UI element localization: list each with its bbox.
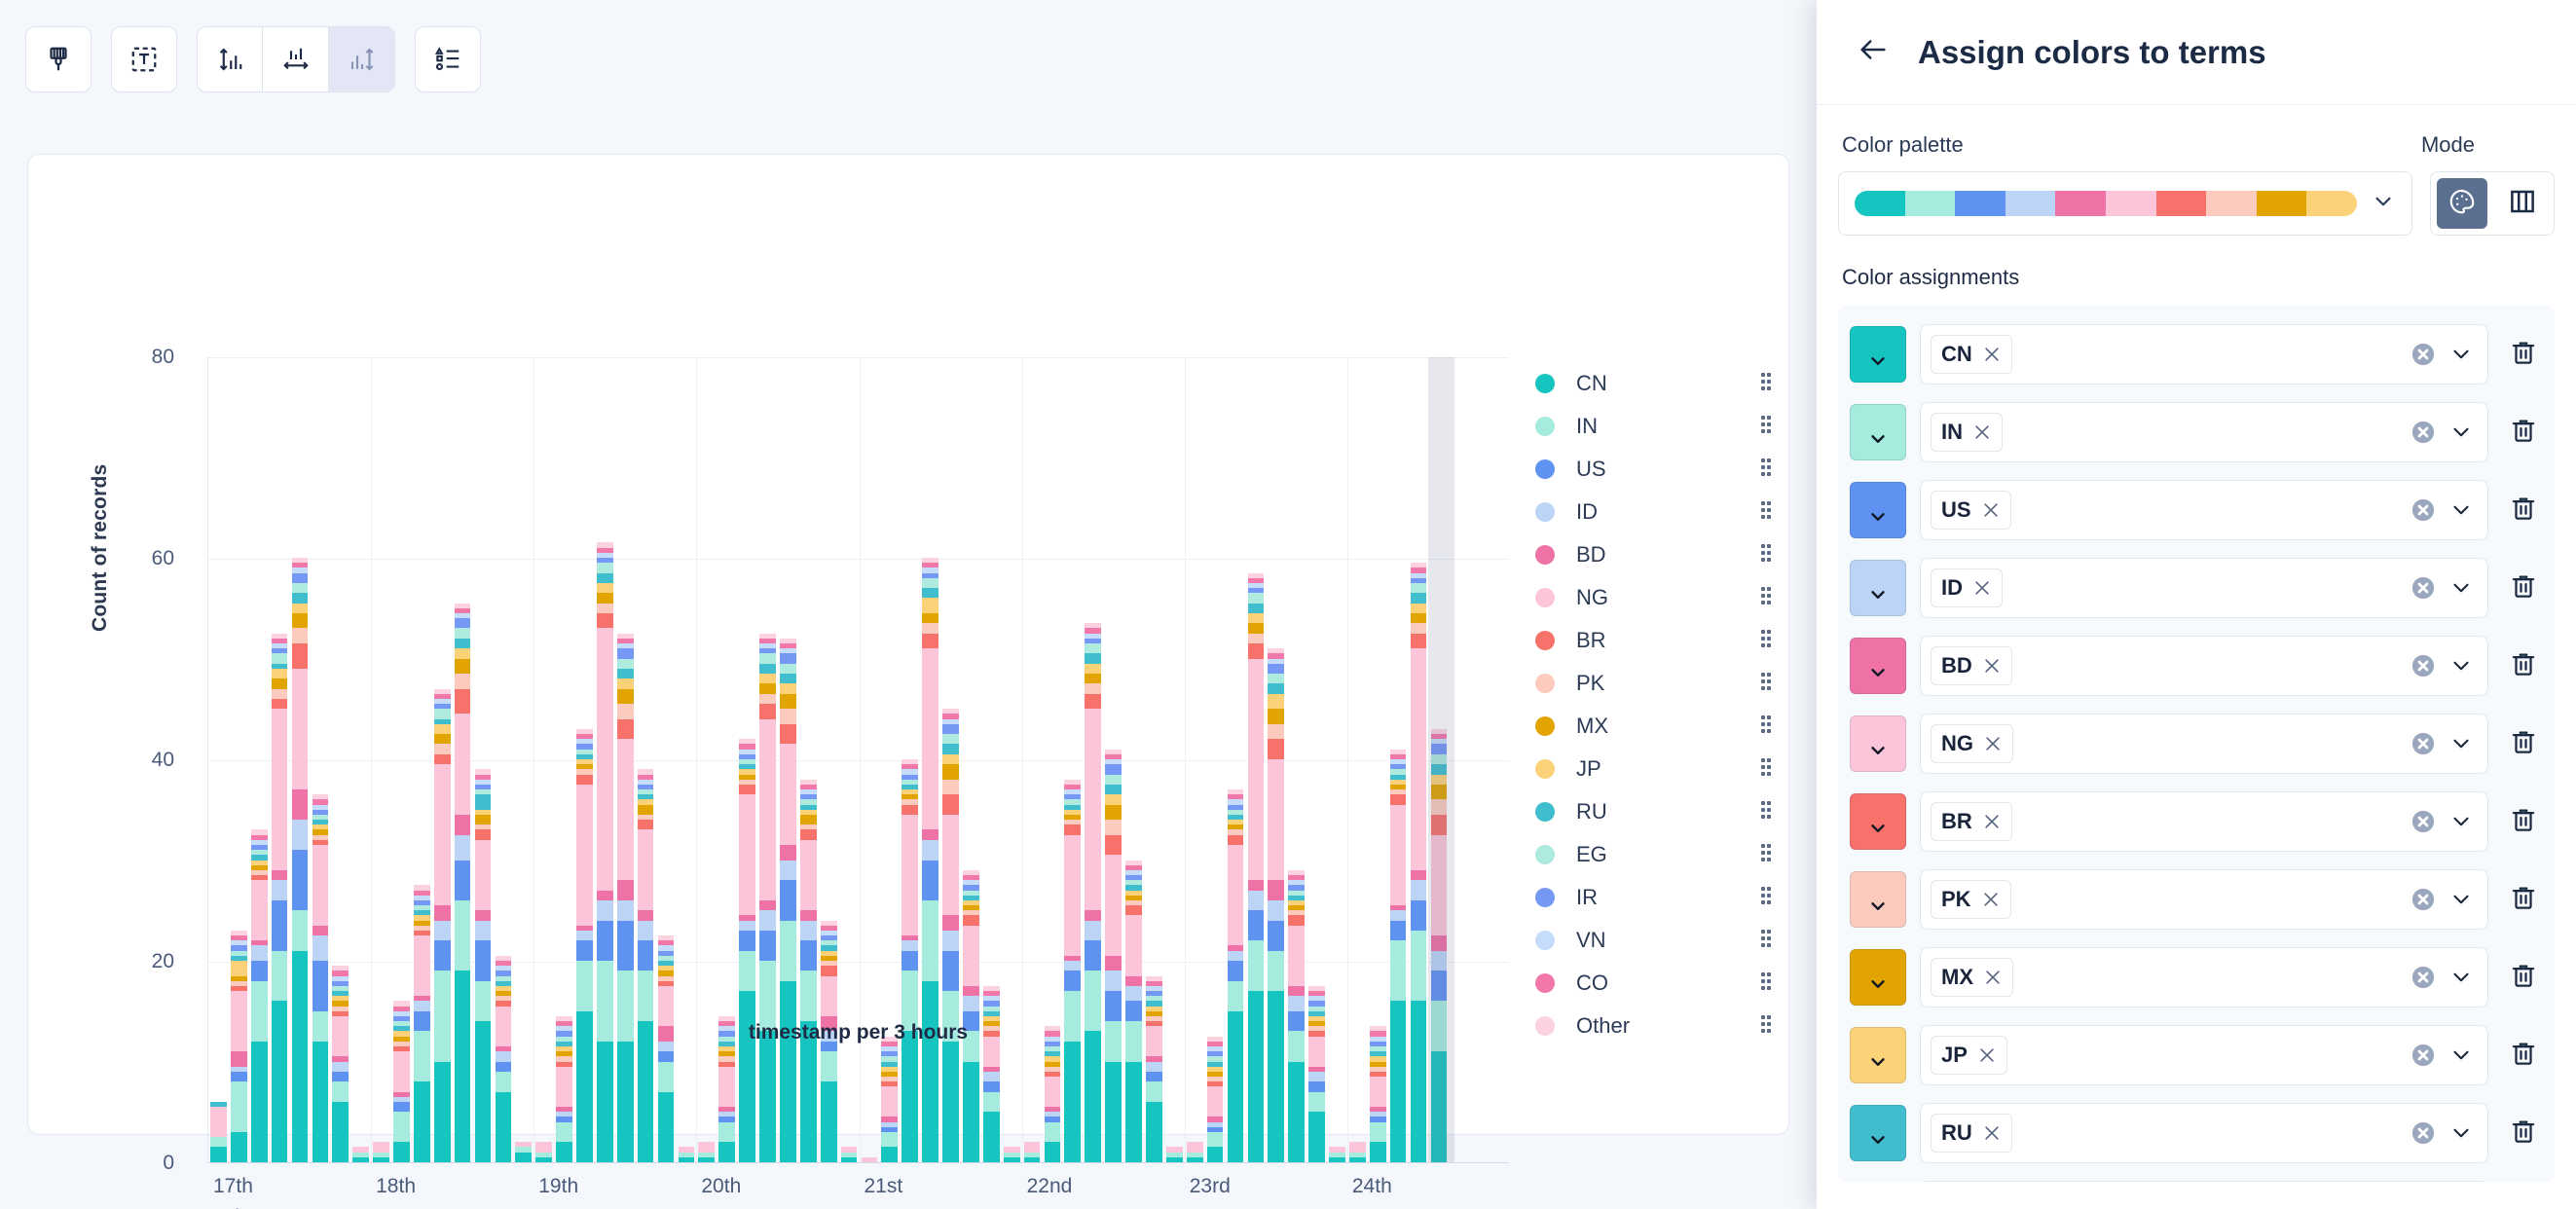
bar-segment	[841, 1153, 858, 1157]
color-palette-select[interactable]	[1838, 171, 2412, 236]
bar-segment	[313, 810, 329, 815]
bar[interactable]	[1370, 1026, 1386, 1162]
bar-segment	[231, 1081, 247, 1132]
bar-segment	[292, 563, 309, 568]
clear-selection-icon[interactable]	[2410, 496, 2437, 524]
bar-segment	[963, 891, 979, 896]
term-combobox[interactable]: RU	[1920, 1103, 2488, 1163]
legend-item-cn[interactable]: CN	[1535, 362, 1779, 405]
term-combobox[interactable]: ID	[1920, 558, 2488, 618]
legend-item-label: CN	[1576, 371, 1607, 396]
clear-selection-icon[interactable]	[2410, 964, 2437, 991]
bar-segment	[1431, 764, 1448, 774]
bar[interactable]	[862, 1157, 878, 1162]
bar[interactable]	[739, 739, 755, 1162]
bar-segment	[1085, 643, 1101, 653]
bar[interactable]	[780, 639, 796, 1162]
bar-segment	[1064, 1042, 1081, 1162]
color-swatch-button[interactable]	[1850, 715, 1906, 772]
chevron-down-icon[interactable]	[2448, 1043, 2474, 1068]
term-pill-label: JP	[1941, 1043, 1968, 1068]
bar-segment	[496, 961, 512, 966]
chevron-down-icon	[1867, 740, 1889, 766]
term-pill: BD	[1931, 646, 2012, 685]
bar[interactable]	[922, 558, 938, 1162]
bar-segment	[272, 870, 288, 880]
bar-segment	[1085, 683, 1101, 693]
bar[interactable]	[841, 1147, 858, 1162]
bar[interactable]	[1411, 563, 1427, 1162]
bar-segment	[718, 1051, 735, 1056]
bar-segment	[658, 1051, 675, 1061]
bar[interactable]	[963, 870, 979, 1162]
bar-segment	[455, 835, 471, 861]
bar[interactable]	[475, 769, 492, 1162]
bar-segment	[739, 991, 755, 1162]
legend-drag-handle[interactable]	[1761, 544, 1771, 566]
legend-item-in[interactable]: IN	[1535, 405, 1779, 448]
color-assignment-row: JP	[1838, 1016, 2555, 1094]
bar-segment	[1411, 613, 1427, 623]
clear-selection-icon[interactable]	[2410, 1042, 2437, 1069]
delete-assignment-button[interactable]	[2502, 1039, 2545, 1073]
bar-segment	[1288, 896, 1305, 900]
remove-term-icon[interactable]	[1981, 890, 2001, 909]
bar-segment	[597, 573, 613, 583]
bar-segment	[1411, 880, 1427, 900]
bar-segment	[902, 815, 918, 935]
bar[interactable]	[515, 1142, 532, 1162]
chevron-down-icon[interactable]	[2448, 731, 2474, 756]
chevron-down-icon[interactable]	[2448, 420, 2474, 445]
bar-segment	[515, 1142, 532, 1147]
bar-segment	[414, 921, 430, 926]
legend-color-dot	[1535, 1016, 1555, 1036]
legend-item-mx[interactable]: MX	[1535, 705, 1779, 748]
bar-segment	[434, 940, 451, 971]
bar-segment	[1288, 926, 1305, 986]
bar-segment	[902, 805, 918, 815]
bar-segment	[1064, 824, 1081, 834]
remove-term-icon[interactable]	[1982, 1123, 2002, 1143]
bar[interactable]	[496, 956, 512, 1162]
bar-segment	[292, 568, 309, 572]
color-assignment-row: BD	[1838, 627, 2555, 705]
bar-segment	[1268, 659, 1284, 664]
bar[interactable]	[455, 604, 471, 1162]
term-combobox[interactable]: BD	[1920, 636, 2488, 696]
bar-segment	[800, 805, 817, 810]
bar[interactable]	[1431, 729, 1448, 1162]
bar[interactable]	[881, 1037, 898, 1162]
bar-segment	[272, 699, 288, 709]
legend-drag-handle[interactable]	[1761, 501, 1771, 523]
bar-segment	[434, 719, 451, 724]
bar-segment	[841, 1147, 858, 1152]
bar[interactable]	[597, 542, 613, 1162]
bar[interactable]	[1228, 789, 1244, 1162]
term-pill-label: MX	[1941, 965, 1973, 990]
bottom-axis-button[interactable]	[263, 26, 329, 92]
bar-segment	[576, 759, 593, 764]
bar-segment	[1228, 829, 1244, 834]
bar[interactable]	[1064, 780, 1081, 1162]
clear-selection-icon[interactable]	[2410, 1119, 2437, 1147]
bar-segment	[1248, 593, 1265, 603]
bar-segment	[535, 1157, 552, 1162]
color-palette-label: Color palette	[1842, 132, 1964, 158]
clear-selection-icon[interactable]	[2410, 652, 2437, 679]
bar[interactable]	[658, 935, 675, 1162]
bar-segment	[739, 759, 755, 764]
term-pill: IN	[1931, 413, 2003, 452]
bar[interactable]	[1390, 750, 1407, 1162]
bar-segment	[1207, 1081, 1224, 1086]
bar-segment	[292, 850, 309, 910]
bar-segment	[679, 1157, 695, 1162]
legend-item-jp[interactable]: JP	[1535, 748, 1779, 790]
gradient-mode-button[interactable]	[2497, 178, 2548, 229]
bar[interactable]	[434, 689, 451, 1162]
term-combobox[interactable]: EG	[1920, 1181, 2488, 1182]
bar-segment	[1390, 940, 1407, 1001]
bar[interactable]	[1024, 1142, 1041, 1162]
term-combobox[interactable]: CN	[1920, 324, 2488, 385]
legend-drag-handle[interactable]	[1761, 630, 1771, 651]
bar[interactable]	[1308, 986, 1325, 1162]
remove-term-icon[interactable]	[1977, 1045, 1997, 1065]
term-combobox[interactable]: IN	[1920, 402, 2488, 462]
bar-segment	[475, 769, 492, 774]
bar-segment	[1268, 694, 1284, 710]
legend-drag-handle[interactable]	[1761, 673, 1771, 694]
bar[interactable]	[576, 729, 593, 1162]
delete-assignment-button[interactable]	[2502, 338, 2545, 372]
bar-segment	[496, 1072, 512, 1092]
bar-segment	[942, 744, 959, 753]
bar-segment	[251, 861, 268, 865]
bar-segment	[292, 604, 309, 613]
color-swatch-button[interactable]	[1850, 1027, 1906, 1083]
delete-assignment-button[interactable]	[2502, 494, 2545, 528]
bar-segment	[231, 1132, 247, 1162]
bar-segment	[1370, 1142, 1386, 1162]
clear-selection-icon[interactable]	[2410, 419, 2437, 446]
bar[interactable]	[1125, 861, 1142, 1163]
bar-segment	[434, 689, 451, 694]
color-assignment-row: IN	[1838, 393, 2555, 471]
legend-item-ru[interactable]: RU	[1535, 790, 1779, 833]
bar-segment	[272, 880, 288, 900]
bar-segment	[475, 815, 492, 824]
chevron-down-icon[interactable]	[2448, 809, 2474, 834]
legend-color-dot	[1535, 931, 1555, 950]
palette-swatch	[1955, 191, 2006, 216]
bar-segment	[292, 910, 309, 950]
bar[interactable]	[1248, 573, 1265, 1162]
text-button[interactable]	[111, 26, 177, 92]
legend-drag-handle[interactable]	[1761, 930, 1771, 951]
bar[interactable]	[1288, 870, 1305, 1162]
bar-segment	[576, 729, 593, 734]
bar[interactable]	[1166, 1147, 1183, 1162]
bar-segment	[292, 820, 309, 850]
bar-segment	[576, 739, 593, 744]
bar[interactable]	[1004, 1147, 1020, 1162]
left-axis-button[interactable]	[197, 26, 263, 92]
remove-term-icon[interactable]	[1982, 656, 2002, 676]
bar-segment	[1045, 1122, 1061, 1143]
bar[interactable]	[1085, 623, 1101, 1162]
bar[interactable]	[800, 780, 817, 1162]
delete-assignment-button[interactable]	[2502, 883, 2545, 917]
bar[interactable]	[210, 1102, 227, 1162]
bar-segment	[313, 835, 329, 840]
bar-segment	[780, 648, 796, 653]
term-combobox[interactable]: BR	[1920, 791, 2488, 852]
bar-segment	[617, 921, 634, 971]
bar-segment	[942, 931, 959, 951]
chevron-down-icon[interactable]	[2448, 965, 2474, 990]
legend-item-label: IR	[1576, 885, 1598, 910]
bar-segment	[496, 1001, 512, 1006]
bar-segment	[231, 931, 247, 935]
bar-segment	[1207, 1077, 1224, 1081]
legend-drag-handle[interactable]	[1761, 758, 1771, 780]
right-axis-button[interactable]	[329, 26, 395, 92]
chevron-down-icon[interactable]	[2448, 887, 2474, 912]
bar-segment	[332, 1102, 349, 1162]
bar-segment	[902, 764, 918, 769]
bar-segment	[963, 986, 979, 996]
back-button[interactable]	[1854, 33, 1893, 72]
legend-drag-handle[interactable]	[1761, 972, 1771, 994]
bar[interactable]	[983, 986, 1000, 1162]
bar-segment	[1125, 1001, 1142, 1021]
bar[interactable]	[231, 931, 247, 1162]
remove-term-icon[interactable]	[1983, 734, 2003, 753]
legend-button[interactable]	[415, 26, 481, 92]
term-combobox[interactable]: PK	[1920, 869, 2488, 930]
legend-item-id[interactable]: ID	[1535, 491, 1779, 533]
clear-selection-icon[interactable]	[2410, 886, 2437, 913]
bar-segment	[515, 1147, 532, 1152]
legend-drag-handle[interactable]	[1761, 587, 1771, 608]
remove-term-icon[interactable]	[1981, 500, 2001, 520]
color-assignment-row: RU	[1838, 1094, 2555, 1172]
chevron-down-icon[interactable]	[2448, 653, 2474, 678]
chevron-down-icon[interactable]	[2448, 497, 2474, 523]
paintbrush-button[interactable]	[25, 26, 92, 92]
bar-segment	[1207, 1127, 1224, 1132]
bar-segment	[1431, 734, 1448, 739]
bar[interactable]	[759, 634, 776, 1162]
bar-segment	[1064, 789, 1081, 794]
legend-drag-handle[interactable]	[1761, 844, 1771, 865]
bar-segment	[414, 910, 430, 915]
legend-item-vn[interactable]: VN	[1535, 919, 1779, 962]
color-swatch-button[interactable]	[1850, 326, 1906, 383]
legend-color-dot	[1535, 502, 1555, 522]
color-assignment-row: ID	[1838, 549, 2555, 627]
palette-mode-button[interactable]	[2437, 178, 2487, 229]
bar-segment	[658, 1062, 675, 1092]
bar[interactable]	[1146, 976, 1162, 1162]
clear-selection-icon[interactable]	[2410, 730, 2437, 757]
bar-segment	[759, 643, 776, 648]
bar-segment	[272, 951, 288, 1002]
bar-segment	[1085, 709, 1101, 910]
bar[interactable]	[1045, 1026, 1061, 1162]
bar[interactable]	[373, 1142, 389, 1162]
chevron-down-icon[interactable]	[2448, 575, 2474, 601]
bar[interactable]	[942, 709, 959, 1162]
y-tick-label: 60	[57, 547, 174, 570]
delete-assignment-button[interactable]	[2502, 571, 2545, 605]
legend-drag-handle[interactable]	[1761, 801, 1771, 823]
bar-segment	[272, 634, 288, 639]
color-swatch-button[interactable]	[1850, 404, 1906, 460]
term-combobox[interactable]: MX	[1920, 947, 2488, 1007]
bar[interactable]	[1187, 1142, 1203, 1162]
remove-term-icon[interactable]	[1982, 345, 2002, 364]
delete-assignment-button[interactable]	[2502, 416, 2545, 450]
bar[interactable]	[1207, 1037, 1224, 1162]
color-swatch-button[interactable]	[1850, 560, 1906, 616]
delete-assignment-button[interactable]	[2502, 805, 2545, 839]
term-combobox[interactable]: US	[1920, 480, 2488, 540]
bar[interactable]	[1105, 750, 1122, 1162]
bar-segment	[718, 1112, 735, 1117]
bar-segment	[780, 694, 796, 710]
legend-drag-handle[interactable]	[1761, 715, 1771, 737]
clear-selection-icon[interactable]	[2410, 808, 2437, 835]
term-combobox[interactable]: NG	[1920, 714, 2488, 774]
clear-selection-icon[interactable]	[2410, 341, 2437, 368]
legend-drag-handle[interactable]	[1761, 416, 1771, 437]
bar[interactable]	[698, 1142, 715, 1162]
bar-segment	[475, 910, 492, 920]
legend-item-label: CO	[1576, 971, 1608, 996]
bar-segment	[638, 799, 654, 804]
bar-segment	[1125, 986, 1142, 1002]
remove-term-icon[interactable]	[1972, 422, 1992, 442]
bar-segment	[251, 850, 268, 855]
bar[interactable]	[1268, 648, 1284, 1162]
bar[interactable]	[1349, 1142, 1366, 1162]
delete-assignment-button[interactable]	[2502, 961, 2545, 995]
term-pill: NG	[1931, 724, 2013, 763]
legend-item-label: IN	[1576, 414, 1598, 439]
bar-segment	[455, 659, 471, 675]
delete-assignment-button[interactable]	[2502, 1117, 2545, 1151]
bar[interactable]	[902, 759, 918, 1162]
bar[interactable]	[638, 769, 654, 1162]
legend-item-br[interactable]: BR	[1535, 619, 1779, 662]
bar-segment	[332, 966, 349, 971]
remove-term-icon[interactable]	[1983, 968, 2003, 987]
bar-segment	[1228, 824, 1244, 829]
legend-item-ng[interactable]: NG	[1535, 576, 1779, 619]
bar-segment	[1228, 810, 1244, 815]
bar[interactable]	[679, 1147, 695, 1162]
clear-selection-icon[interactable]	[2410, 574, 2437, 602]
color-swatch-button[interactable]	[1850, 638, 1906, 694]
color-swatch-button[interactable]	[1850, 482, 1906, 538]
term-combobox[interactable]: JP	[1920, 1025, 2488, 1085]
bar[interactable]	[292, 558, 309, 1162]
bar[interactable]	[313, 794, 329, 1162]
bar-segment	[1268, 674, 1284, 683]
bar-segment	[1064, 785, 1081, 789]
bar-segment	[597, 900, 613, 921]
color-swatch-button[interactable]	[1850, 1105, 1906, 1161]
bar-segment	[1268, 648, 1284, 653]
bar[interactable]	[352, 1147, 369, 1162]
legend-drag-handle[interactable]	[1761, 887, 1771, 908]
remove-term-icon[interactable]	[1972, 578, 1992, 598]
bar-segment	[1268, 900, 1284, 921]
legend-drag-handle[interactable]	[1761, 1015, 1771, 1037]
bar-segment	[292, 643, 309, 669]
bar-segment	[739, 931, 755, 951]
legend-item-bd[interactable]: BD	[1535, 533, 1779, 576]
bar-segment	[881, 1062, 898, 1067]
legend-item-co[interactable]: CO	[1535, 962, 1779, 1005]
color-swatch-button[interactable]	[1850, 793, 1906, 850]
bar-segment	[638, 775, 654, 780]
bar-segment	[373, 1153, 389, 1157]
bar-segment	[597, 548, 613, 553]
legend-item-us[interactable]: US	[1535, 448, 1779, 491]
legend-item-eg[interactable]: EG	[1535, 833, 1779, 876]
legend-item-ir[interactable]: IR	[1535, 876, 1779, 919]
bar-segment	[739, 785, 755, 794]
bar-segment	[679, 1147, 695, 1152]
bar-segment	[983, 1011, 1000, 1016]
trash-icon	[2509, 1117, 2538, 1151]
legend-drag-handle[interactable]	[1761, 373, 1771, 394]
remove-term-icon[interactable]	[1982, 812, 2002, 831]
chevron-down-icon[interactable]	[2448, 1120, 2474, 1146]
bar-segment	[1064, 820, 1081, 824]
legend-item-other[interactable]: Other	[1535, 1005, 1779, 1047]
flyout-header: Assign colors to terms	[1817, 0, 2576, 105]
bar[interactable]	[272, 634, 288, 1162]
bar-segment	[414, 885, 430, 890]
color-swatch-button[interactable]	[1850, 949, 1906, 1006]
bar[interactable]	[617, 634, 634, 1162]
legend-item-pk[interactable]: PK	[1535, 662, 1779, 705]
color-swatch-button[interactable]	[1850, 871, 1906, 928]
bar-segment	[1045, 1072, 1061, 1077]
bar-segment	[496, 1051, 512, 1061]
bar-segment	[1431, 971, 1448, 1001]
bar[interactable]	[251, 829, 268, 1162]
delete-assignment-button[interactable]	[2502, 649, 2545, 683]
bar-segment	[1146, 981, 1162, 986]
bar[interactable]	[1329, 1147, 1345, 1162]
delete-assignment-button[interactable]	[2502, 727, 2545, 761]
bar-segment	[800, 794, 817, 799]
bar[interactable]	[332, 966, 349, 1162]
legend-drag-handle[interactable]	[1761, 458, 1771, 480]
bar-segment	[800, 971, 817, 1021]
chevron-down-icon	[1867, 973, 1889, 1000]
bar[interactable]	[535, 1142, 552, 1162]
bar-segment	[718, 1056, 735, 1061]
chevron-down-icon[interactable]	[2448, 342, 2474, 367]
